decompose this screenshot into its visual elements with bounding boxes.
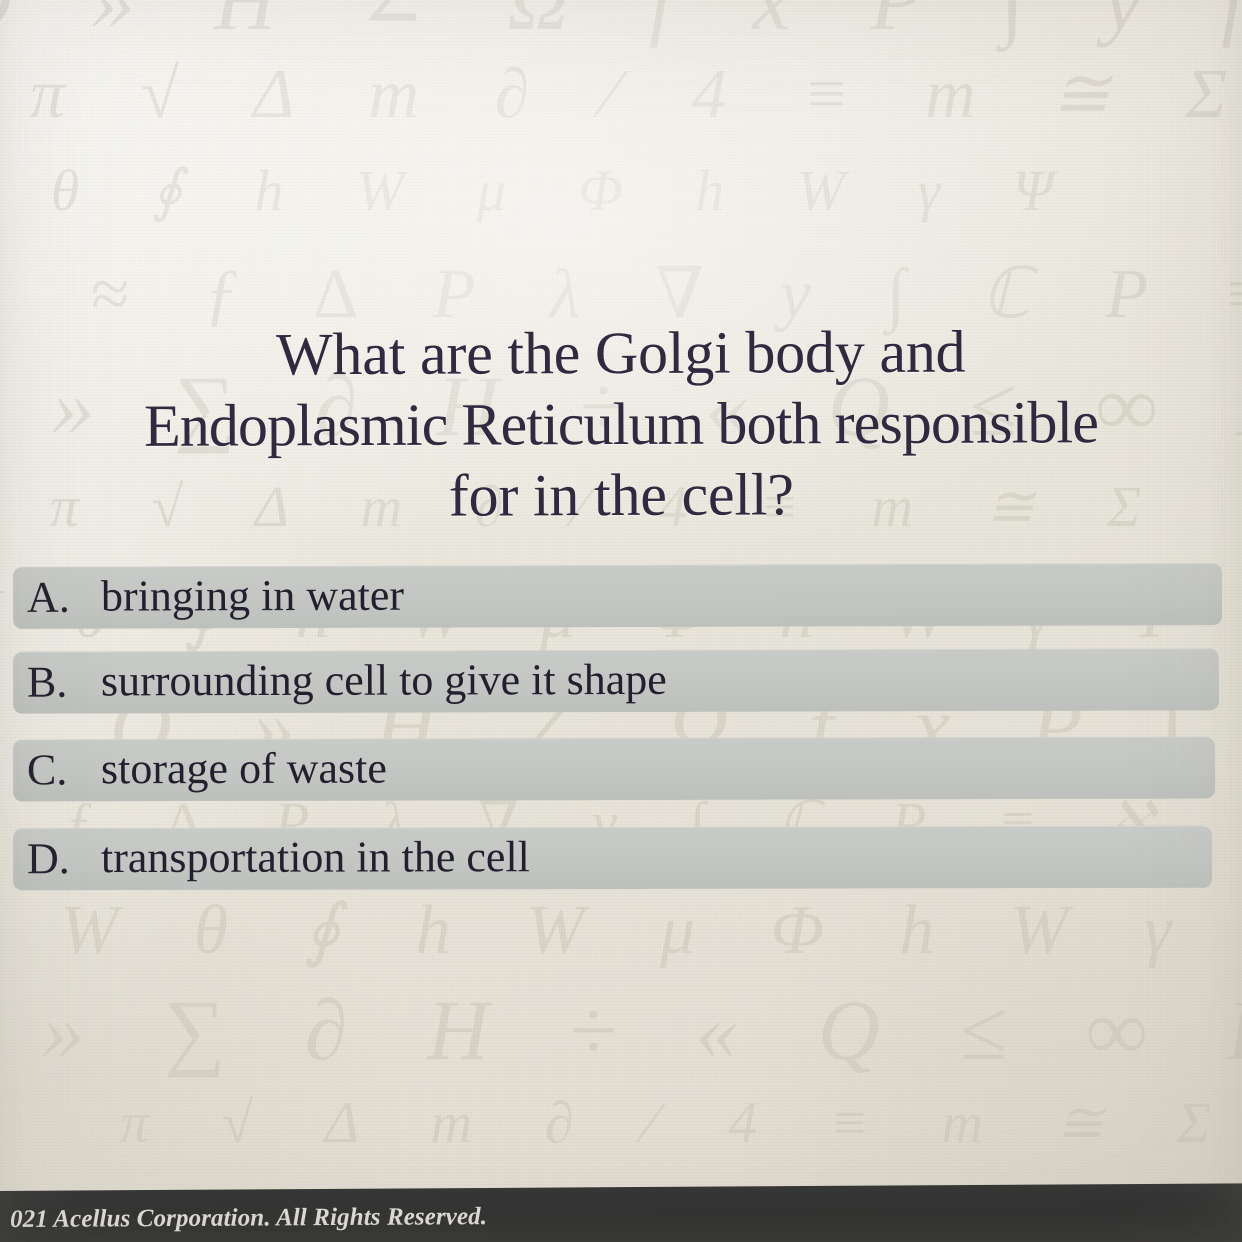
question-line-2: Endoplasmic Reticulum both responsible: [0, 387, 1242, 463]
question-line-1: What are the Golgi body and: [0, 316, 1242, 392]
answer-choice-a[interactable]: A. bringing in water: [13, 563, 1222, 629]
answer-choice-d-text: transportation in the cell: [101, 835, 530, 883]
answer-choice-c-letter: C.: [13, 748, 101, 792]
answer-choice-a-letter: A.: [13, 576, 101, 620]
answer-choice-c[interactable]: C. storage of waste: [13, 737, 1215, 802]
question-screen: O » H ∠ Ω f x P ∫ y f ∑ P π √ Δ m ∂ ∕ 4 …: [0, 0, 1242, 1242]
answer-choice-a-text: bringing in water: [101, 573, 404, 621]
question-line-3: for in the cell?: [0, 458, 1242, 534]
answer-choice-d-letter: D.: [13, 837, 101, 881]
answer-choice-d[interactable]: D. transportation in the cell: [13, 826, 1212, 891]
question-text: What are the Golgi body and Endoplasmic …: [0, 316, 1242, 534]
answer-choice-b-letter: B.: [13, 660, 101, 704]
answer-choice-b-text: surrounding cell to give it shape: [101, 657, 667, 706]
answer-choice-c-text: storage of waste: [101, 746, 387, 794]
answer-choice-b[interactable]: B. surrounding cell to give it shape: [13, 648, 1219, 713]
copyright-notice: 021 Acellus Corporation. All Rights Rese…: [10, 1203, 487, 1234]
